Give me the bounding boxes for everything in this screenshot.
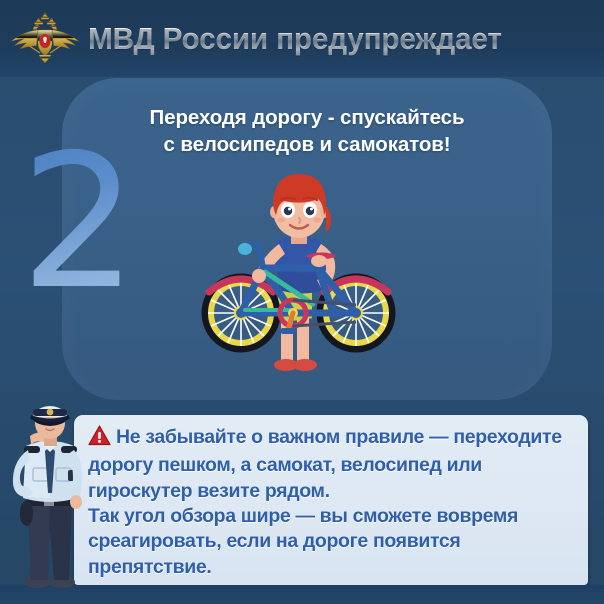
heading-line-2: с велосипедов и самокатов! bbox=[90, 131, 524, 158]
warning-text-box: Не забывайте о важном правиле — переходи… bbox=[74, 415, 588, 585]
warning-line-1-text: Не забывайте о важном правиле — переходи… bbox=[116, 426, 562, 448]
heading-line-1: Переходя дорогу - спускайтесь bbox=[90, 104, 524, 131]
poster-root: МВД России предупреждает Переходя дорогу… bbox=[0, 0, 604, 604]
warning-line-2: дорогу пешком, а самокат, велосипед или bbox=[88, 453, 574, 478]
mvd-eagle-icon bbox=[8, 11, 82, 67]
warning-line-5: среагировать, если на дороге появится bbox=[88, 529, 574, 554]
warning-line-3: гироскутер везите рядом. bbox=[88, 479, 574, 504]
police-officer-icon bbox=[4, 396, 96, 594]
header-title: МВД России предупреждает bbox=[88, 21, 583, 57]
warning-line-6: препятствие. bbox=[88, 555, 574, 580]
warning-line-1: Не забывайте о важном правиле — переходи… bbox=[88, 425, 574, 453]
header-band: МВД России предупреждает bbox=[0, 0, 604, 77]
child-with-bicycle-icon bbox=[193, 162, 411, 380]
warning-line-4: Так угол обзора шире — вы сможете воврем… bbox=[88, 504, 574, 529]
step-number-badge: 2 bbox=[14, 130, 144, 315]
warning-text: Не забывайте о важном правиле — переходи… bbox=[88, 425, 574, 580]
